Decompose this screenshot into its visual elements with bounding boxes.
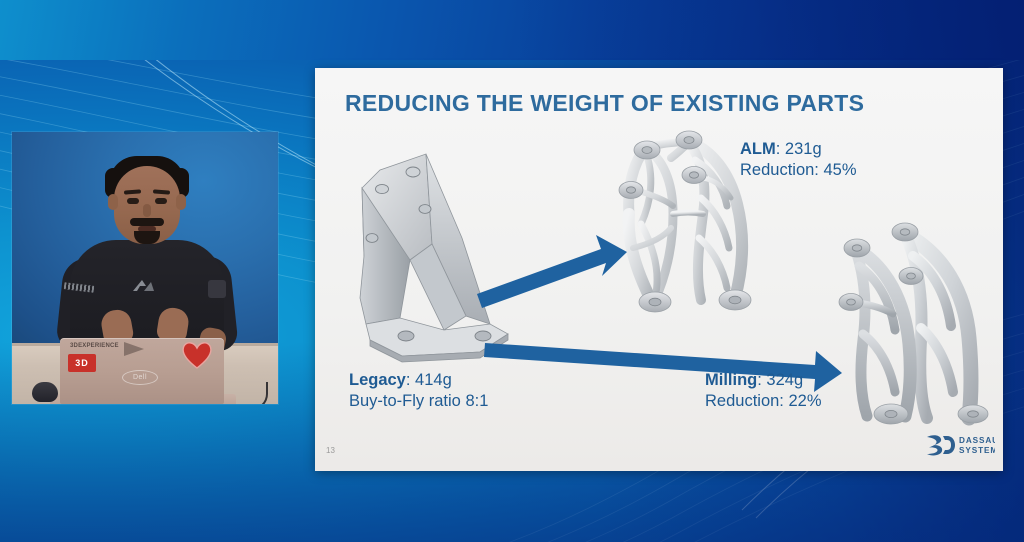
milling-key: Milling [705, 371, 757, 389]
presenter-left-eye [127, 198, 139, 204]
triangle-sticker-icon [124, 342, 144, 356]
presenter-moustache [130, 218, 164, 226]
presenter-right-ear [176, 194, 186, 210]
presenter-video-feed[interactable]: 3DEXPERIENCE 3D Dell [12, 132, 278, 404]
presenter-left-ear [108, 194, 118, 210]
presentation-slide[interactable]: REDUCING THE WEIGHT OF EXISTING PARTS [315, 68, 1003, 471]
sleeve-badge [208, 280, 226, 298]
alm-key: ALM [740, 140, 776, 158]
3d-cube-sticker: 3D [68, 354, 96, 372]
alm-callout: ALM: 231g Reduction: 45% [740, 139, 857, 181]
tshirt-logo-icon [130, 278, 156, 294]
3dexperience-sticker: 3DEXPERIENCE [70, 343, 119, 349]
arrow-to-alm [477, 235, 627, 308]
dassault-systemes-logo: DASSAULT SYSTEMES [923, 432, 995, 458]
legacy-value: : 414g [406, 371, 452, 389]
slide-page-number: 13 [326, 446, 335, 455]
computer-mouse [32, 382, 58, 402]
alm-value: : 231g [776, 140, 822, 158]
presenter-right-eye [155, 198, 167, 204]
legacy-key: Legacy [349, 371, 406, 389]
milling-callout-line1: Milling: 324g [705, 370, 822, 391]
presenter-nose [143, 204, 151, 217]
legacy-callout: Legacy: 414g Buy-to-Fly ratio 8:1 [349, 370, 488, 412]
milling-callout-line2: Reduction: 22% [705, 391, 822, 412]
screen-root: 3DEXPERIENCE 3D Dell REDUCING THE WEIGHT… [0, 0, 1024, 542]
alm-callout-line2: Reduction: 45% [740, 160, 857, 181]
heart-sticker-icon [180, 340, 214, 370]
legacy-callout-line1: Legacy: 414g [349, 370, 488, 391]
laptop-brand-label: Dell [122, 370, 158, 385]
cable [222, 382, 268, 404]
milling-callout: Milling: 324g Reduction: 22% [705, 370, 822, 412]
legacy-callout-line2: Buy-to-Fly ratio 8:1 [349, 391, 488, 412]
milling-value: : 324g [757, 371, 803, 389]
alm-callout-line1: ALM: 231g [740, 139, 857, 160]
logo-line1: DASSAULT [959, 436, 995, 445]
logo-line2: SYSTEMES [959, 446, 995, 455]
